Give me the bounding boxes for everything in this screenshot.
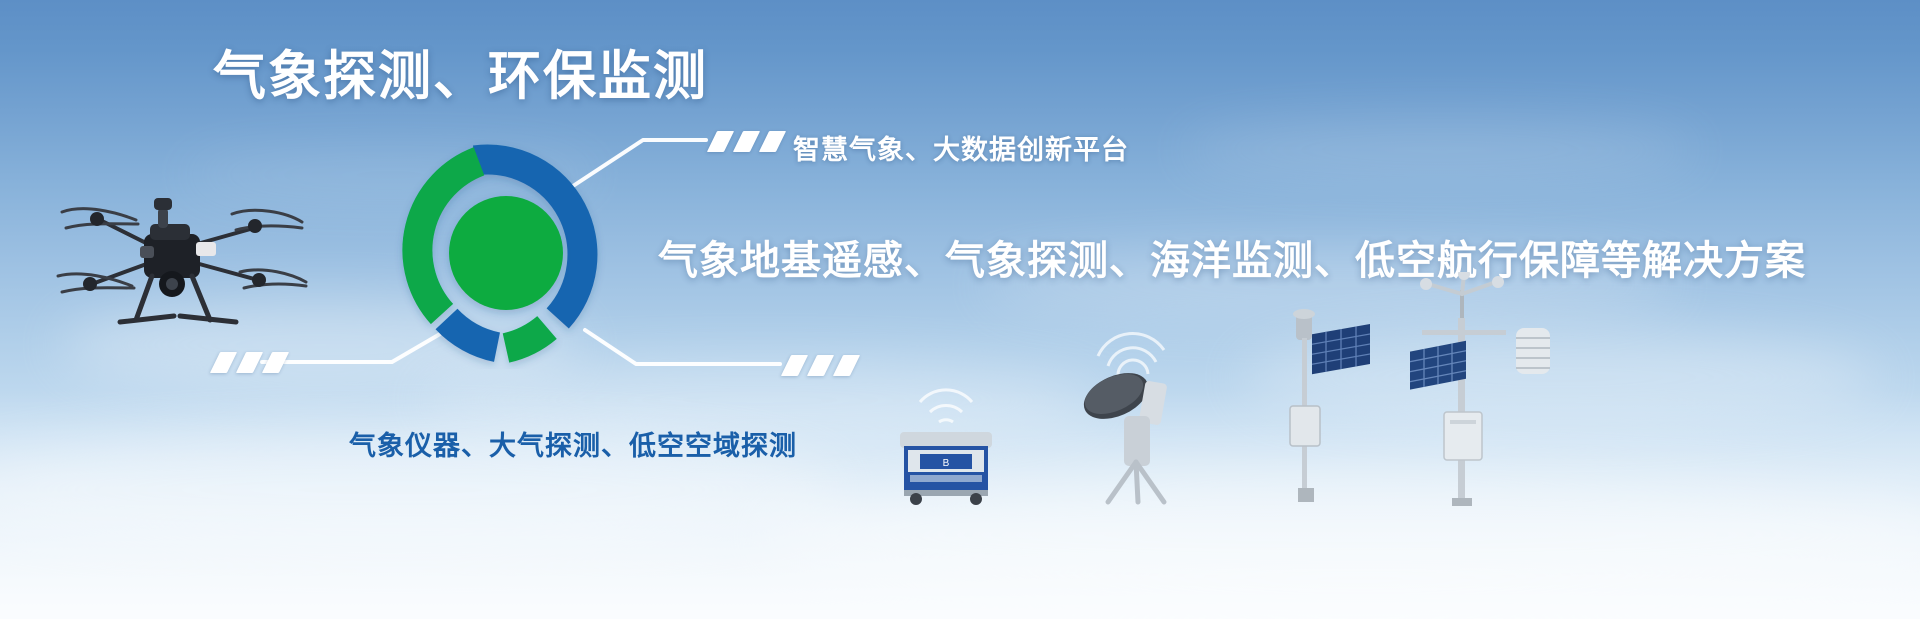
drone-image [40, 150, 310, 355]
slash-accent-left [215, 352, 284, 373]
anemometer-icon [1420, 272, 1504, 320]
solar-powered-sensor-mast-image [1268, 300, 1378, 505]
banner-main-line: 气象地基遥感、气象探测、海洋监测、低空航行保障等解决方案 [658, 228, 1806, 286]
ring-segment-green-lower [506, 328, 547, 349]
slash-accent-top [712, 131, 781, 152]
slash-accent-right [786, 355, 855, 376]
mobile-laser-radar-unit-image: B [886, 380, 1006, 505]
svg-text:B: B [943, 458, 950, 469]
ring-core-disc [449, 196, 563, 310]
callout-top-text: 智慧气象、大数据创新平台 [793, 128, 1129, 167]
cloud-wisp [1180, 120, 1700, 180]
banner-title: 气象探测、环保监测 [213, 46, 708, 108]
tripod-satellite-antenna-image [1068, 330, 1198, 505]
signal-ripples [920, 390, 972, 422]
hero-banner: 气象探测、环保监测 智慧气象、大数据创新平台 气象地基遥感、气象探测、海洋监测、… [0, 0, 1920, 619]
ring-segment-blue-lower [447, 319, 498, 347]
callout-bottom-text: 气象仪器、大气探测、低空空域探测 [349, 424, 797, 463]
circular-ring-mark [390, 137, 622, 369]
automatic-weather-station-image [1398, 272, 1563, 507]
radiation-shield-icon [1516, 328, 1550, 374]
signal-ripples [1098, 334, 1164, 376]
